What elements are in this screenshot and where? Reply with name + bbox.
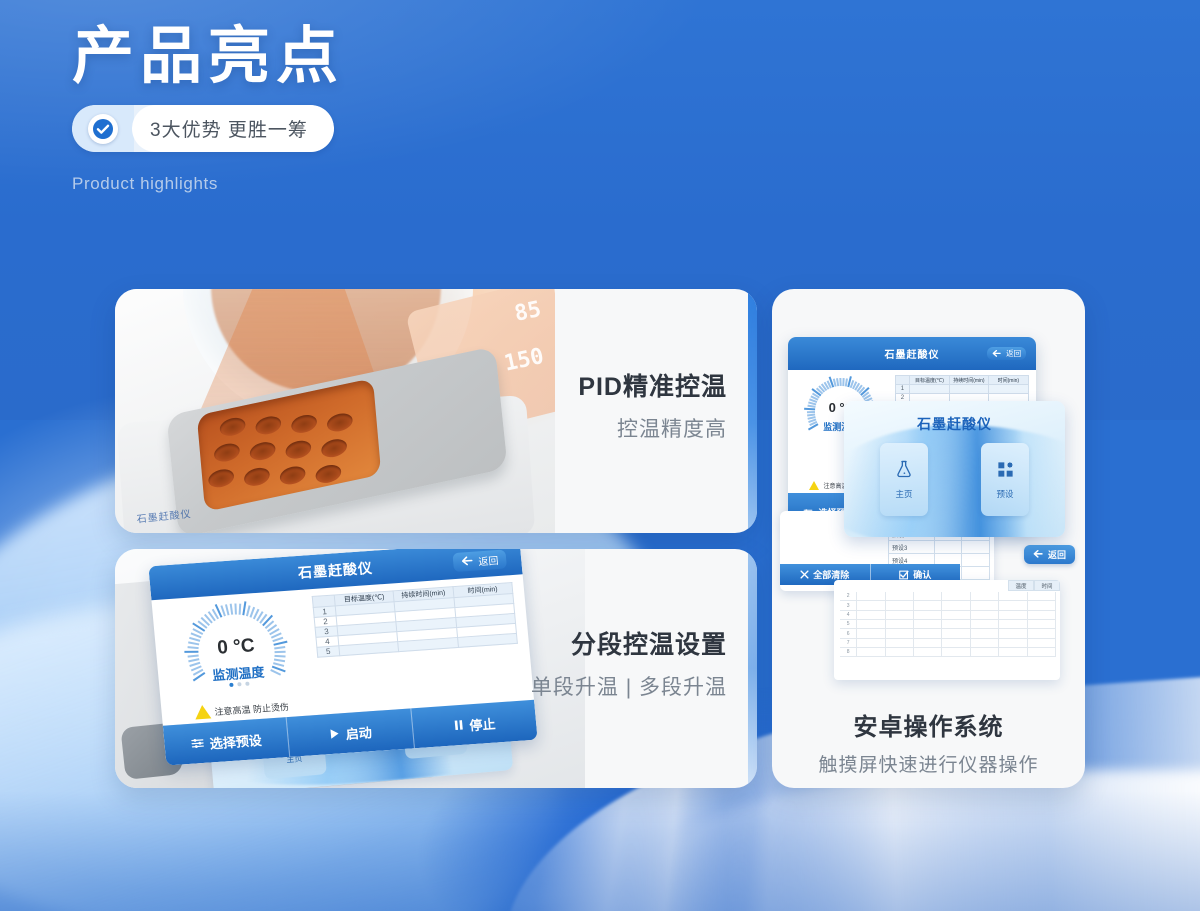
- grid-rows: 2 3 4 5 6 7 8: [840, 592, 1056, 674]
- grid-row[interactable]: 5: [840, 620, 1056, 629]
- grid-row[interactable]: 6: [840, 629, 1056, 638]
- card-segmented-temperature-setting[interactable]: 主页 预设 石墨赶酸仪: [115, 549, 757, 788]
- vial-hole: [255, 414, 282, 436]
- grid-cell[interactable]: [857, 601, 885, 609]
- vial-hole: [326, 411, 353, 433]
- badge-label: 3大优势 更胜一筹: [132, 105, 334, 152]
- vial-hole: [249, 440, 276, 462]
- card-accent-bar: [748, 549, 757, 788]
- grid-cell[interactable]: [886, 620, 914, 628]
- grid-cell[interactable]: [914, 639, 942, 647]
- grid-cell[interactable]: [942, 611, 970, 619]
- grid-cell[interactable]: [999, 601, 1027, 609]
- device-gauge-area: 0 °C 监测温度 注意高温 防止烫伤: [151, 589, 322, 726]
- page-dot[interactable]: [245, 682, 249, 686]
- badge-icon-wrapper: [72, 105, 134, 152]
- back-arrow-icon: [1033, 550, 1044, 559]
- pid-heading: PID精准控温: [578, 367, 727, 403]
- grid-cell[interactable]: [857, 592, 885, 600]
- grid-cell[interactable]: [999, 639, 1027, 647]
- grid-cell[interactable]: [914, 601, 942, 609]
- page-title: 产品亮点: [72, 22, 344, 91]
- grid-row-number: 3: [840, 601, 857, 609]
- segment-card-copy: 分段控温设置 单段升温 | 多段升温: [531, 625, 727, 701]
- grid-cell[interactable]: [942, 629, 970, 637]
- pid-card-copy: PID精准控温 控温精度高: [578, 367, 727, 443]
- grid-row-number: 4: [840, 611, 857, 619]
- data-grid-panel[interactable]: 温度 时间 2 3 4 5 6 7 8: [834, 580, 1060, 680]
- grid-cell[interactable]: [942, 620, 970, 628]
- stop-button[interactable]: 停止: [411, 700, 538, 748]
- warning-text: 注意高温 防止烫伤: [214, 699, 290, 717]
- pid-product-photo: 85 150: [115, 289, 555, 533]
- cell-time[interactable]: [989, 385, 1028, 394]
- device-screen-segment[interactable]: 石墨赶酸仪 返回 0 °C 监测温度: [148, 549, 537, 766]
- flask-icon: [894, 459, 914, 479]
- preset-col-time[interactable]: [962, 554, 989, 566]
- vial-hole: [291, 413, 318, 435]
- display-value-2: 150: [502, 344, 546, 377]
- gauge-tick: [239, 603, 242, 614]
- grid-cell[interactable]: [942, 648, 970, 656]
- row-index: 1: [895, 385, 910, 394]
- background-bottom-fade: [0, 791, 1200, 911]
- grid-cell[interactable]: [914, 620, 942, 628]
- grid-cell[interactable]: [971, 648, 999, 656]
- grid-cell[interactable]: [1028, 601, 1056, 609]
- select-preset-label: 选择预设: [209, 729, 263, 752]
- table-header-cell: 时间(min): [989, 376, 1028, 385]
- device-back-label: 返回: [1006, 348, 1021, 359]
- grid-cell[interactable]: [1028, 639, 1056, 647]
- panel-back-label: 返回: [1048, 548, 1066, 561]
- home-dialog[interactable]: 石墨赶酸仪 主页 预设: [844, 401, 1065, 537]
- page-header: 产品亮点 3大优势 更胜一筹 Product highlights: [72, 22, 344, 194]
- grid-cell[interactable]: [914, 629, 942, 637]
- grid-row[interactable]: 3: [840, 601, 1056, 610]
- device-back-button[interactable]: 返回: [987, 347, 1026, 360]
- grid-header-temp: 温度: [1008, 580, 1034, 591]
- card-pid-temperature-control[interactable]: 85 150: [115, 289, 757, 533]
- device-title: 石墨赶酸仪: [885, 346, 940, 361]
- dialog-tile-preset-label: 预设: [996, 488, 1013, 500]
- preset-name: 预设3: [889, 541, 935, 553]
- grid-cell[interactable]: [886, 592, 914, 600]
- grid-cell[interactable]: [1028, 648, 1056, 656]
- vial-hole: [279, 464, 306, 486]
- grid-cell[interactable]: [1028, 629, 1056, 637]
- cell-duration[interactable]: [949, 385, 988, 394]
- gauge-tick: [230, 603, 234, 614]
- pid-subheading: 控温精度高: [578, 413, 727, 443]
- vial-hole: [208, 467, 235, 489]
- vial-hole: [213, 441, 240, 463]
- grid-cell[interactable]: [914, 592, 942, 600]
- highlight-badge: 3大优势 更胜一筹: [72, 105, 334, 152]
- dialog-tile-home-label: 主页: [895, 488, 912, 500]
- grid-cell[interactable]: [942, 601, 970, 609]
- grid-cell[interactable]: [886, 629, 914, 637]
- temperature-gauge: 0 °C 监测温度: [176, 600, 296, 703]
- grid-row-number: 5: [840, 620, 857, 628]
- warning-triangle-icon: [809, 481, 819, 490]
- grid-cell[interactable]: [971, 629, 999, 637]
- grid-cell[interactable]: [886, 601, 914, 609]
- gauge-tick: [225, 604, 230, 615]
- segment-subheading: 单段升温 | 多段升温: [531, 671, 727, 701]
- dialog-wave-graphic: [844, 425, 1065, 537]
- vial-hole: [315, 463, 342, 485]
- row-index: 5: [317, 646, 340, 657]
- grid-cell[interactable]: [999, 629, 1027, 637]
- vial-hole: [243, 466, 270, 488]
- card-accent-bar: [748, 289, 757, 533]
- play-icon: [328, 727, 341, 740]
- segment-product-photo: 主页 预设 石墨赶酸仪: [115, 549, 585, 788]
- stop-label: 停止: [468, 713, 496, 734]
- device-topbar: 石墨赶酸仪 返回: [788, 337, 1036, 370]
- table-header-row: 目标温度(℃) 持续时间(min) 时间(min): [895, 376, 1028, 385]
- table-row[interactable]: 1: [895, 385, 1028, 394]
- grid-cell[interactable]: [942, 592, 970, 600]
- grid-cell[interactable]: [999, 648, 1027, 656]
- grid-cell[interactable]: [971, 611, 999, 619]
- background-silk-ribbon-secondary: [640, 770, 1200, 911]
- grid-cell[interactable]: [886, 611, 914, 619]
- preset-col-temp[interactable]: [935, 541, 962, 553]
- android-subheading: 触摸屏快速进行仪器操作: [772, 750, 1085, 777]
- grid-row-number: 8: [840, 648, 857, 656]
- grid-cell[interactable]: [857, 639, 885, 647]
- preset-col-time[interactable]: [962, 541, 989, 553]
- grid-cell[interactable]: [999, 620, 1027, 628]
- preset-col-time[interactable]: [962, 567, 989, 579]
- grid-row[interactable]: 8: [840, 648, 1056, 657]
- grid-cell[interactable]: [886, 648, 914, 656]
- grid-cell[interactable]: [857, 611, 885, 619]
- segment-heading: 分段控温设置: [531, 625, 727, 661]
- page-dot[interactable]: [237, 682, 241, 686]
- grid-cell[interactable]: [1028, 592, 1056, 600]
- grid-cell[interactable]: [857, 620, 885, 628]
- grid-cell[interactable]: [914, 611, 942, 619]
- product-highlights-page: 产品亮点 3大优势 更胜一筹 Product highlights 85 15: [0, 0, 1200, 911]
- grid-cell[interactable]: [971, 601, 999, 609]
- android-card-copy: 安卓操作系统 触摸屏快速进行仪器操作: [772, 707, 1085, 777]
- vial-hole: [219, 416, 246, 438]
- display-value-1: 85: [512, 297, 543, 327]
- table-header-cell: 目标温度(℃): [910, 376, 949, 385]
- device-back-label: 返回: [478, 551, 499, 567]
- grid-cell[interactable]: [1028, 611, 1056, 619]
- grid-row[interactable]: 7: [840, 639, 1056, 648]
- start-label: 启动: [345, 722, 373, 743]
- close-icon: [800, 570, 809, 579]
- check-circle-icon: [88, 114, 118, 144]
- grid-cell[interactable]: [942, 639, 970, 647]
- grid-cell[interactable]: [999, 592, 1027, 600]
- grid-row-number: 7: [840, 639, 857, 647]
- page-subtitle: Product highlights: [72, 174, 344, 194]
- grid-cell[interactable]: [857, 629, 885, 637]
- program-table[interactable]: 目标温度(℃) 持续时间(min) 时间(min) 1 2 3 4 5: [312, 582, 518, 658]
- back-arrow-icon: [461, 555, 475, 567]
- device-back-button[interactable]: 返回: [452, 549, 507, 572]
- grid-row-number: 6: [840, 629, 857, 637]
- pause-icon: [453, 719, 465, 732]
- dialog-title: 石墨赶酸仪: [844, 414, 1065, 434]
- back-arrow-icon: [992, 350, 1002, 358]
- grid-row[interactable]: 2: [840, 592, 1056, 601]
- table-header-cell: 持续时间(min): [949, 376, 988, 385]
- cell-target-temp[interactable]: [910, 385, 949, 394]
- device-title: 石墨赶酸仪: [297, 558, 374, 583]
- warning-triangle-icon: [194, 704, 211, 719]
- card-android-operating-system[interactable]: 石墨赶酸仪 返回 0 °C 监测温度: [772, 289, 1085, 788]
- grid-row[interactable]: 4: [840, 611, 1056, 620]
- dialog-tile-home[interactable]: 主页: [880, 443, 928, 516]
- grid-header-time: 时间: [1034, 580, 1060, 591]
- vial-hole: [321, 437, 348, 459]
- page-dot[interactable]: [229, 683, 233, 687]
- grid-cell[interactable]: [1028, 620, 1056, 628]
- panel-back-button[interactable]: 返回: [1024, 545, 1075, 564]
- grid-cell[interactable]: [857, 648, 885, 656]
- vial-hole: [285, 438, 312, 460]
- preset-row[interactable]: 预设3: [888, 541, 990, 554]
- device-program-table-area: 目标温度(℃) 持续时间(min) 时间(min) 1 2 3 4 5: [311, 574, 534, 714]
- android-heading: 安卓操作系统: [772, 707, 1085, 742]
- grid-cell[interactable]: [971, 620, 999, 628]
- grid-cell[interactable]: [971, 592, 999, 600]
- dialog-tile-preset[interactable]: 预设: [981, 443, 1029, 516]
- grid-header-row: 温度 时间: [834, 580, 1060, 591]
- gauge-tick: [234, 603, 236, 614]
- grid-cell[interactable]: [914, 648, 942, 656]
- check-box-icon: [899, 570, 909, 580]
- grid-cell[interactable]: [999, 611, 1027, 619]
- grid-cell[interactable]: [886, 639, 914, 647]
- grid-cell[interactable]: [971, 639, 999, 647]
- sliders-icon: [190, 737, 205, 750]
- grid-row-number: 2: [840, 592, 857, 600]
- grid-icon: [996, 460, 1015, 479]
